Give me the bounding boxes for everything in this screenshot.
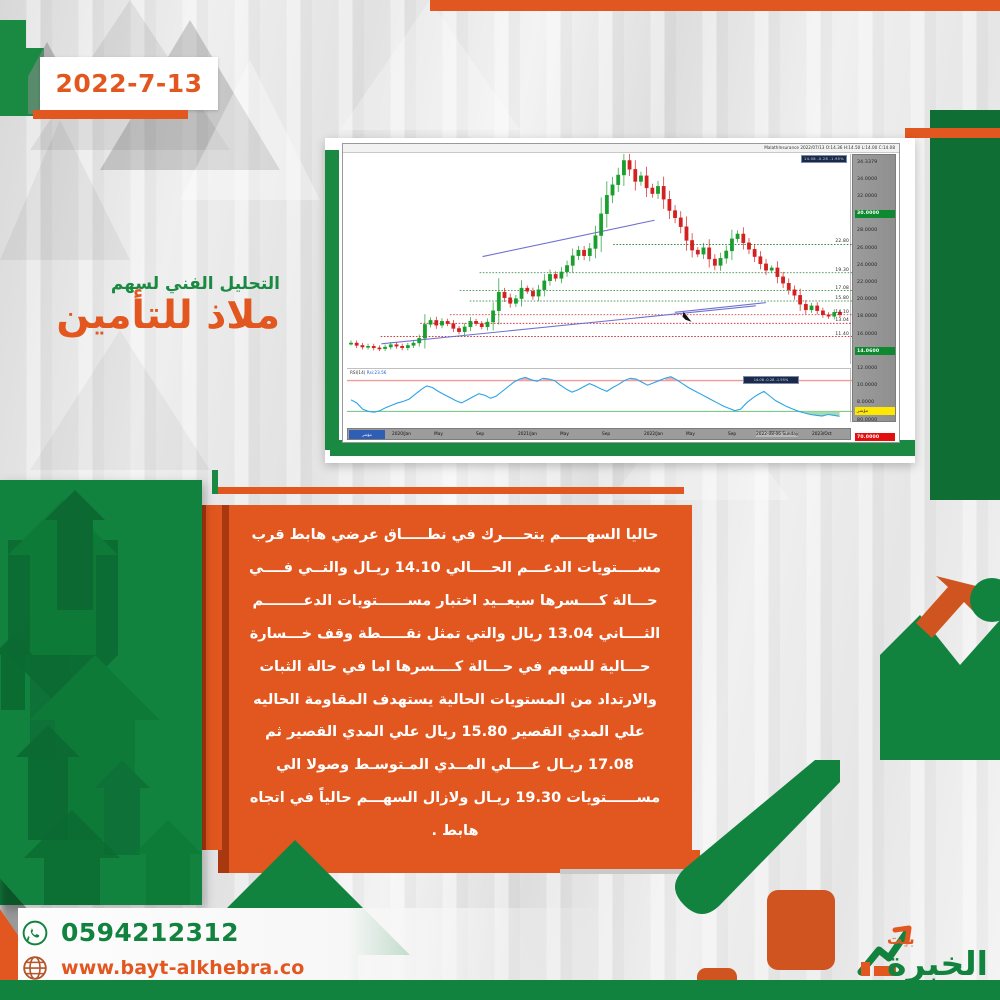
headline-block: التحليل الفني لسهم ملاذ للتأمين (0, 275, 280, 337)
time-axis-tick: 2020/Jan (392, 432, 411, 437)
logo-text-main: الخبرة (887, 944, 988, 983)
price-axis-tick: 8.0000 (855, 399, 895, 407)
price-level-label: 15.80 (835, 296, 849, 301)
date-underline (33, 110, 188, 119)
price-axis-tick: 32.0000 (855, 192, 895, 200)
price-axis-tick: 14.0600 (855, 347, 895, 355)
price-axis-tick: 20.0000 (855, 296, 895, 304)
price-axis-tick: 18.0000 (855, 313, 895, 321)
time-axis-tick: May (434, 432, 443, 437)
chart-orange-accent (905, 128, 1000, 138)
globe-icon (22, 955, 48, 981)
top-orange-bar (430, 0, 1000, 11)
xaxis-indicator-button[interactable]: مؤشر (349, 430, 385, 439)
logo-wordmark: بيت الخبرة (887, 932, 988, 980)
price-level-label: 14.10 (835, 310, 849, 315)
right-green-zigzag (880, 560, 1000, 760)
analysis-body-text: حاليا السهـــــم يتحــــرك في نطـــــاق … (218, 505, 692, 848)
rsi-info-box: 14.08 -0.28 -1.95% (743, 376, 799, 384)
price-axis-tick: 34.3379 (855, 158, 895, 166)
bottom-green-band (0, 980, 1000, 1000)
price-axis-tick: 34.0000 (855, 175, 895, 183)
price-axis-tick: 22.0000 (855, 278, 895, 286)
price-axis-tick: 12.0000 (855, 364, 895, 372)
headline-subtitle: التحليل الفني لسهم (0, 275, 280, 294)
price-axis-tick: 26.0000 (855, 244, 895, 252)
footer-phone-row[interactable]: 0594212312 (22, 918, 239, 947)
footer-website-url: www.bayt-alkhebra.co (61, 957, 305, 979)
time-axis-tick: Sep (602, 432, 610, 437)
scale-separator-label: مؤشر (855, 407, 895, 415)
time-axis-tick: 2022/Jan (644, 432, 663, 437)
price-level-label: 11.40 (835, 332, 849, 337)
poster-root: 2022-7-13 التحليل الفني لسهم ملاذ للتأمي… (0, 0, 1000, 1000)
time-axis-tick: 2023/Oct (812, 432, 832, 437)
time-axis[interactable]: مؤشر 2020/JanMaySep2021/JanMaySep2022/Ja… (347, 428, 851, 440)
orange-vertical-strip (206, 505, 222, 850)
bottom-orange-square-large (767, 890, 835, 970)
price-level-label: 13.04 (835, 318, 849, 323)
rsi-label: RSI(14) Rsi:23.56 (350, 370, 386, 375)
price-axis-tick: 10.0000 (855, 382, 895, 390)
price-level-label: 17.08 (835, 286, 849, 291)
time-axis-status: 2022-08-06 Sunday (756, 432, 798, 437)
time-axis-tick: May (560, 432, 569, 437)
chart-title-bar: MalathInsurance 2022/07/13 O:14.36 H:14.… (343, 144, 899, 153)
date-badge: 2022-7-13 (40, 57, 218, 110)
price-plot-area[interactable] (347, 154, 851, 364)
green-arrows-panel (0, 480, 202, 905)
time-axis-tick: Sep (476, 432, 484, 437)
analysis-text-panel: حاليا السهـــــم يتحــــرك في نطـــــاق … (218, 505, 692, 873)
chart-green-left-bar (325, 150, 339, 450)
footer-phone-number: 0594212312 (61, 918, 239, 947)
price-scale-axis[interactable]: 34.337934.000032.000030.000028.000026.00… (852, 154, 896, 422)
chart-info-box: 14.08 -0.28 -1.95% (801, 155, 847, 163)
whatsapp-icon (22, 920, 48, 946)
candlestick-svg (347, 154, 853, 364)
date-text: 2022-7-13 (55, 69, 202, 98)
brand-logo[interactable]: بيت الخبرة (855, 912, 990, 984)
arrow-pattern-svg (0, 480, 202, 905)
footer-website-row[interactable]: www.bayt-alkhebra.co (22, 955, 305, 981)
price-level-label: 19.30 (835, 268, 849, 273)
time-axis-tick: Sep (728, 432, 736, 437)
price-axis-tick: 80.0000 (855, 416, 895, 424)
price-axis-tick: 30.0000 (855, 210, 895, 218)
time-axis-tick: May (686, 432, 695, 437)
headline-title: ملاذ للتأمين (0, 296, 280, 337)
time-axis-tick: 2021/Jan (518, 432, 537, 437)
price-axis-tick: 28.0000 (855, 227, 895, 235)
price-level-label: 22.80 (835, 239, 849, 244)
panel-divider-orange (218, 487, 684, 494)
top-right-green-block (930, 110, 1000, 500)
price-axis-tick: 70.0000 (855, 433, 895, 441)
trading-chart-window[interactable]: MalathInsurance 2022/07/13 O:14.36 H:14.… (342, 143, 900, 443)
price-axis-tick: 16.0000 (855, 330, 895, 338)
price-axis-tick: 24.0000 (855, 261, 895, 269)
